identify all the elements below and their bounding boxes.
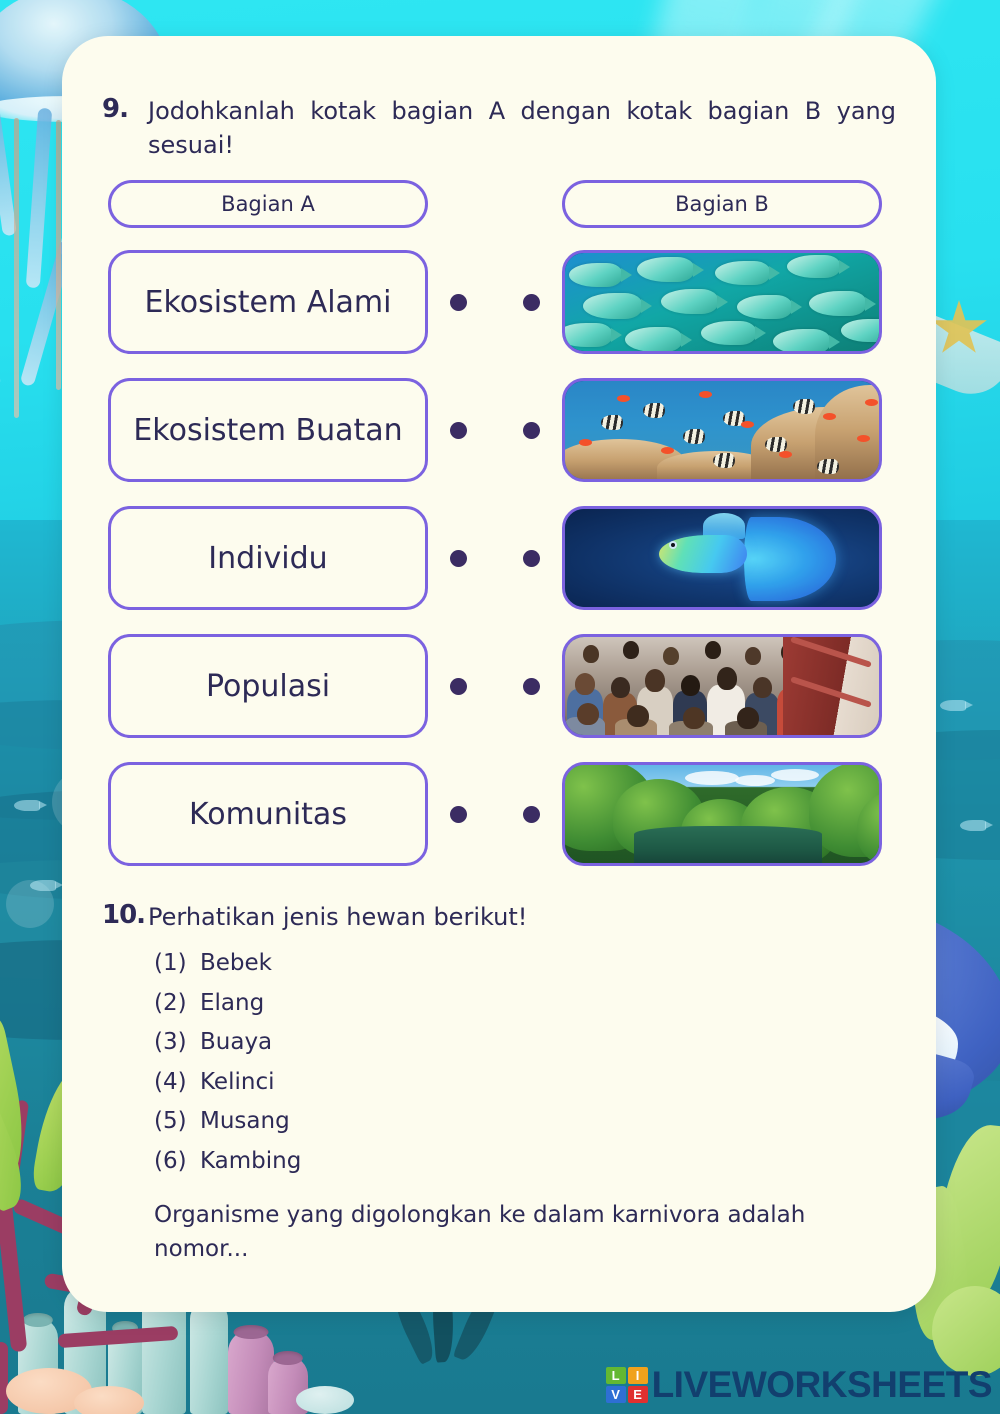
river-water — [634, 826, 822, 863]
list-item-label: Bebek — [200, 944, 272, 984]
connector-dot-a[interactable] — [450, 294, 467, 311]
connector-row-1 — [428, 250, 562, 354]
jellyfish-tentacle — [14, 118, 19, 418]
list-item: (1) Bebek — [154, 944, 896, 984]
question-10: 10. Perhatikan jenis hewan berikut! (1) … — [102, 900, 896, 1266]
sponge-shape — [74, 1386, 144, 1414]
column-a-header: Bagian A — [108, 180, 428, 228]
list-item-number: (5) — [154, 1102, 200, 1142]
matching-exercise: Bagian A Ekosistem Alami Ekosistem Buata… — [102, 180, 896, 890]
match-option-a-label: Individu — [208, 542, 327, 575]
list-item-number: (6) — [154, 1142, 200, 1182]
list-item-label: Kambing — [200, 1142, 301, 1182]
coral-branch — [0, 1342, 8, 1414]
question-10-header: 10. Perhatikan jenis hewan berikut! — [102, 900, 896, 934]
list-item-number: (3) — [154, 1023, 200, 1063]
connector-dot-b[interactable] — [523, 678, 540, 695]
column-b: Bagian B — [562, 180, 882, 890]
match-option-a-label: Ekosistem Buatan — [133, 414, 402, 447]
connector-row-2 — [428, 378, 562, 482]
liveworksheets-logo[interactable]: L I V E LIVEWORKSHEETS — [606, 1364, 992, 1406]
logo-letter-e: E — [628, 1386, 648, 1403]
logo-wordmark: LIVEWORKSHEETS — [652, 1364, 992, 1406]
list-item-number: (2) — [154, 984, 200, 1024]
question-10-tail: Organisme yang digolongkan ke dalam karn… — [154, 1198, 874, 1267]
question-10-prompt: Perhatikan jenis hewan berikut! — [148, 900, 896, 934]
match-option-a-label: Ekosistem Alami — [145, 286, 392, 319]
jellyfish-arm — [0, 198, 1, 389]
column-b-header: Bagian B — [562, 180, 882, 228]
guppy-fish-photo — [565, 509, 879, 607]
column-a: Bagian A Ekosistem Alami Ekosistem Buata… — [108, 180, 428, 890]
list-item: (5) Musang — [154, 1102, 896, 1142]
list-item-label: Elang — [200, 984, 264, 1024]
list-item-number: (4) — [154, 1063, 200, 1103]
list-item-number: (1) — [154, 944, 200, 984]
list-item-label: Musang — [200, 1102, 290, 1142]
connector-row-5 — [428, 762, 562, 866]
match-option-b-1-school-of-fish-photo[interactable] — [562, 250, 882, 354]
list-item: (6) Kambing — [154, 1142, 896, 1182]
match-option-a-4[interactable]: Populasi — [108, 634, 428, 738]
list-item-label: Kelinci — [200, 1063, 274, 1103]
liveworksheets-logo-mark: L I V E — [606, 1367, 648, 1403]
question-9: 9. Jodohkanlah kotak bagian A dengan kot… — [102, 94, 896, 162]
match-option-b-4-human-crowd-photo[interactable] — [562, 634, 882, 738]
match-option-a-1[interactable]: Ekosistem Alami — [108, 250, 428, 354]
list-item: (4) Kelinci — [154, 1063, 896, 1103]
question-9-prompt: Jodohkanlah kotak bagian A dengan kotak … — [148, 94, 896, 162]
guppy-body — [659, 535, 747, 573]
list-item: (2) Elang — [154, 984, 896, 1024]
coral-reef-photo — [565, 381, 879, 479]
connector-dot-b[interactable] — [523, 550, 540, 567]
question-9-number: 9. — [102, 94, 148, 124]
railing-structure — [783, 637, 879, 735]
connector-dot-a[interactable] — [450, 678, 467, 695]
logo-letter-v: V — [606, 1386, 626, 1403]
human-crowd-photo — [565, 637, 879, 735]
jellyfish-arm — [26, 108, 53, 289]
match-option-a-2[interactable]: Ekosistem Buatan — [108, 378, 428, 482]
worksheet-card: 9. Jodohkanlah kotak bagian A dengan kot… — [62, 36, 936, 1312]
logo-letter-l: L — [606, 1367, 626, 1384]
connector-dot-a[interactable] — [450, 550, 467, 567]
match-option-b-5-river-forest-photo[interactable] — [562, 762, 882, 866]
match-option-a-label: Komunitas — [189, 798, 347, 831]
match-option-a-3[interactable]: Individu — [108, 506, 428, 610]
river-forest-photo — [565, 765, 879, 863]
connector-dot-b[interactable] — [523, 294, 540, 311]
fish-silhouette-icon — [940, 700, 966, 711]
guppy-tail — [744, 517, 836, 601]
connector-dot-b[interactable] — [523, 422, 540, 439]
match-option-b-3-guppy-fish-photo[interactable] — [562, 506, 882, 610]
logo-letter-i: I — [628, 1367, 648, 1384]
question-10-number: 10. — [102, 900, 148, 930]
connector-dot-a[interactable] — [450, 422, 467, 439]
connector-dot-a[interactable] — [450, 806, 467, 823]
connector-row-4 — [428, 634, 562, 738]
tube-sponge — [190, 1300, 228, 1414]
connector-column — [428, 180, 562, 890]
fish-silhouette-icon — [30, 880, 56, 891]
fish-silhouette-icon — [14, 800, 40, 811]
fish-silhouette-icon — [960, 820, 986, 831]
list-item-label: Buaya — [200, 1023, 272, 1063]
school-of-fish-photo — [565, 253, 879, 351]
match-option-a-label: Populasi — [206, 670, 330, 703]
connector-spacer — [428, 180, 562, 228]
jellyfish-tentacle — [56, 120, 61, 390]
match-option-a-5[interactable]: Komunitas — [108, 762, 428, 866]
connector-row-3 — [428, 506, 562, 610]
match-option-b-2-coral-reef-photo[interactable] — [562, 378, 882, 482]
animal-list: (1) Bebek (2) Elang (3) Buaya (4) Kelinc… — [154, 944, 896, 1181]
list-item: (3) Buaya — [154, 1023, 896, 1063]
connector-dot-b[interactable] — [523, 806, 540, 823]
sponge-shape — [296, 1386, 354, 1414]
worksheet-content: 9. Jodohkanlah kotak bagian A dengan kot… — [62, 36, 936, 1312]
